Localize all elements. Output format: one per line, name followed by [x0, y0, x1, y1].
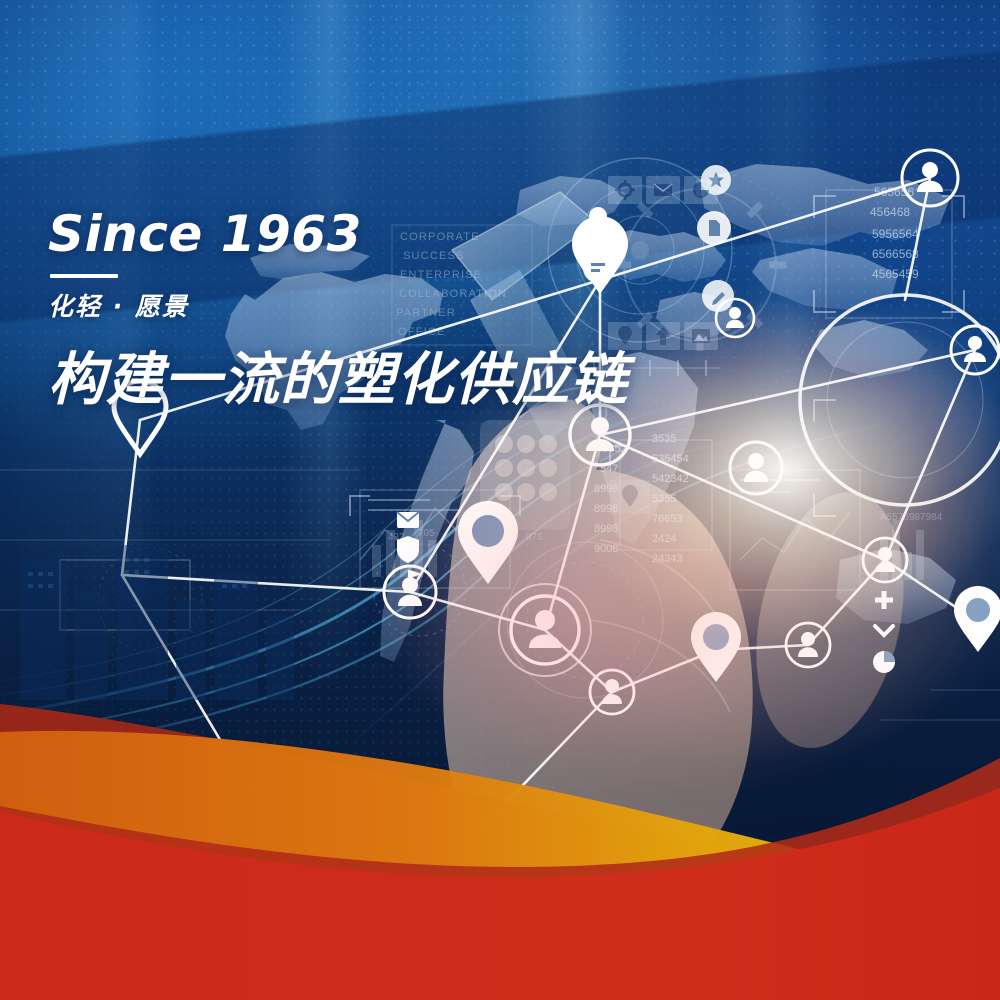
bottom-wave-decoration [0, 680, 1000, 1000]
eyebrow-since-year: Since 1963 [48, 208, 628, 261]
subtitle-text: 化轻 · 愿景 [48, 287, 628, 323]
hero-banner: CORPORATE SUCCESS ENTERPRISE COLLABORATI… [0, 0, 1000, 1000]
headline-text-block: Since 1963 化轻 · 愿景 构建一流的塑化供应链 [48, 208, 628, 416]
divider-rule [50, 274, 118, 278]
page-title: 构建一流的塑化供应链 [48, 334, 628, 416]
